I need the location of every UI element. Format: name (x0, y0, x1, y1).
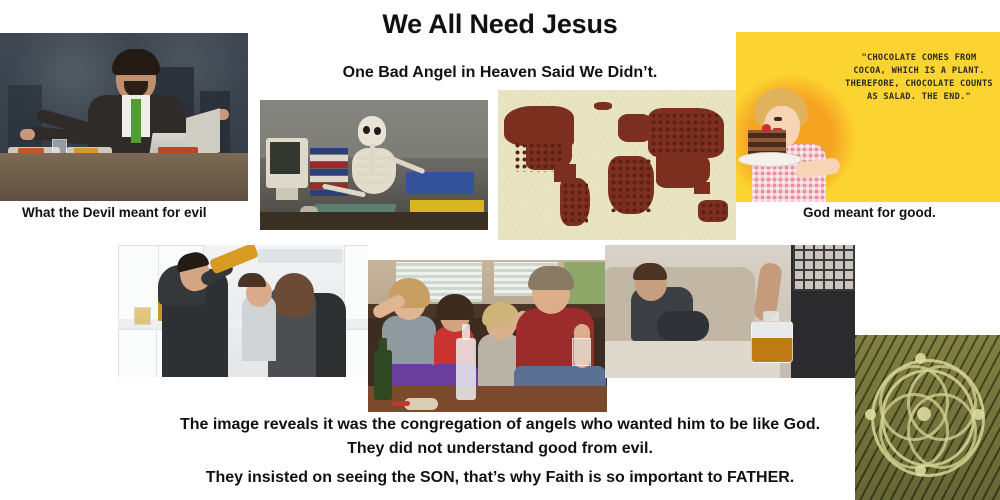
body-line-3: They insisted on seeing the SON, that’s … (0, 469, 1000, 487)
image-coffee-bean-world-map (498, 90, 736, 240)
slide-subtitle: One Bad Angel in Heaven Said We Didn’t. (0, 64, 1000, 82)
image-chocolate-salad-meme: "CHOCOLATE COMES FROM COCOA, WHICH IS A … (736, 32, 1000, 202)
image-skeleton-at-desk (260, 100, 488, 230)
body-line-1: The image reveals it was the congregatio… (0, 416, 1000, 434)
caption-devil-evil: What the Devil meant for evil (22, 205, 207, 220)
page-title: We All Need Jesus (0, 9, 1000, 40)
caption-god-good: God meant for good. (803, 205, 936, 220)
image-kitchen-drinking-father (118, 245, 368, 377)
image-boy-and-whiskey-decanter (605, 245, 855, 378)
body-line-2: They did not understand good from evil. (0, 440, 1000, 458)
slide-canvas: "CHOCOLATE COMES FROM COCOA, WHICH IS A … (0, 0, 1000, 500)
image-businessman-multitasking (0, 33, 248, 201)
image-family-arguing-couch (368, 260, 607, 412)
